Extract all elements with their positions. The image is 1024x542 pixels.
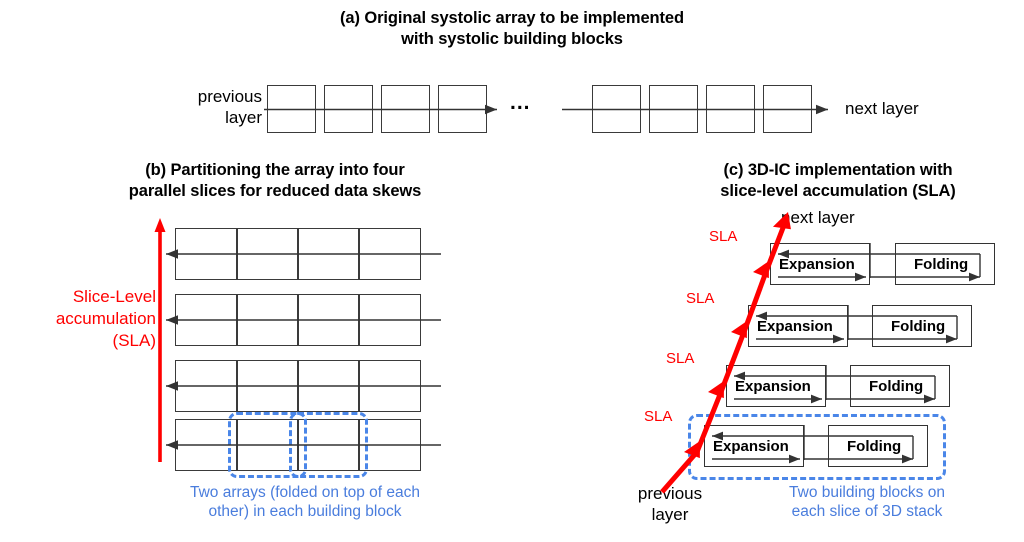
panel-c-sla-diagonal-arrow (662, 209, 795, 492)
panel-c-slice-arrows (712, 425, 913, 460)
panel-c-slice-arrows (756, 305, 957, 340)
diagram-lines-overlay (0, 0, 1024, 542)
panel-c-slice-arrows (734, 365, 935, 400)
figure-root: (a) Original systolic array to be implem… (0, 0, 1024, 542)
panel-c-slice-arrows (778, 243, 980, 278)
panel-b-sla-arrow (155, 218, 166, 462)
